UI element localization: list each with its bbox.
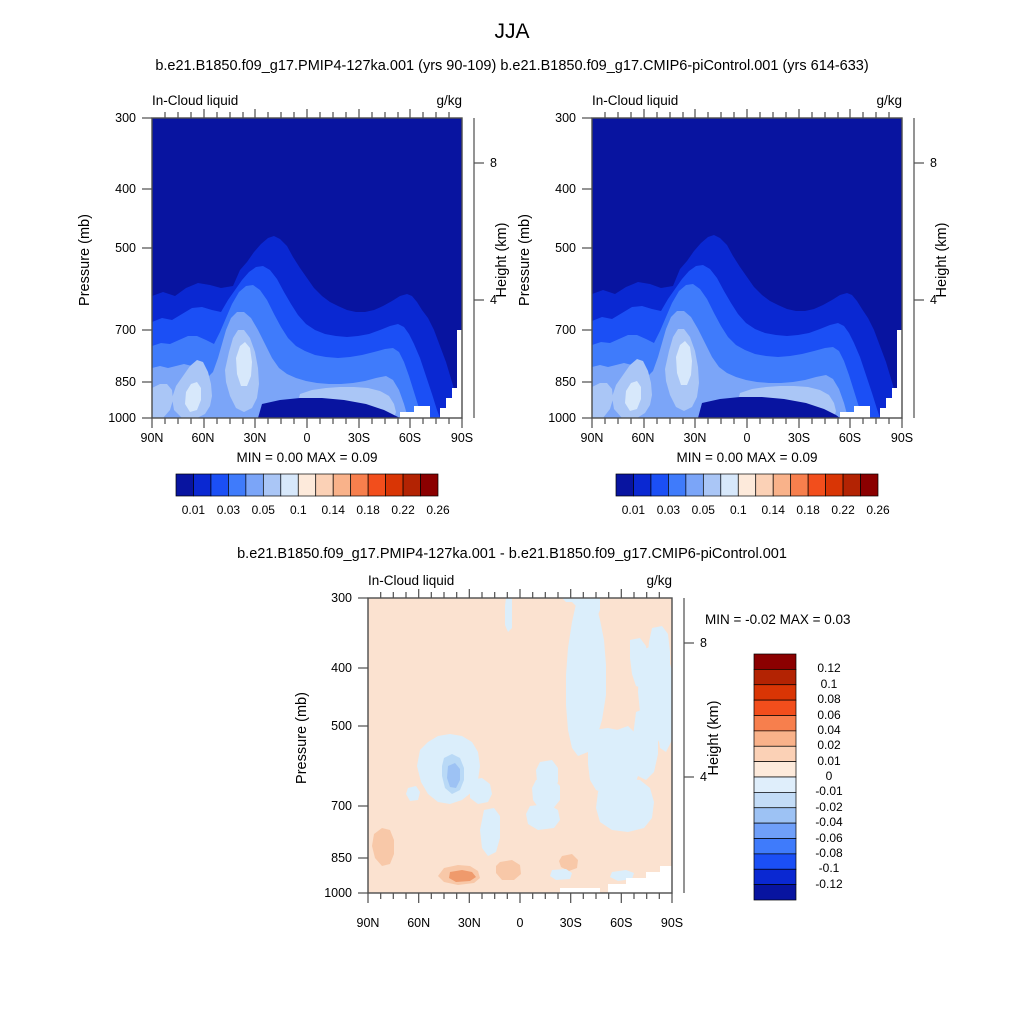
panel-diff-height-ticks [684,643,694,777]
panel-diff-y2label: Height (km) [706,648,722,828]
panel-diff-xtick-30S: 30S [560,916,582,930]
panel-left-xticks-top [165,109,449,118]
panel-right-xtick-60N: 60N [632,431,655,445]
panel-right-ytick-500: 500 [555,241,576,255]
panel-diff-xticks [368,893,672,903]
colorbar-diff-label: -0.04 [806,815,852,829]
colorbar-diff-cell[interactable] [754,808,796,823]
panel-right-ytick-700: 700 [555,323,576,337]
panel-diff-minmax: MIN = -0.02 MAX = 0.03 [705,612,851,627]
panel-right-ytick-850: 850 [555,375,576,389]
panel-left-xtick-90N: 90N [141,431,164,445]
panel-right-xtick-90N: 90N [581,431,604,445]
panel-diff-xticks-top [381,589,660,598]
panel-right-minmax: MIN = 0.00 MAX = 0.09 [676,450,817,465]
colorbar-diff-cell[interactable] [754,654,796,669]
colorbar-diff-cell[interactable] [754,777,796,792]
colorbar-diff-label: -0.02 [806,800,852,814]
panel-diff-xtick-60N: 60N [407,916,430,930]
colorbar-diff-cell[interactable] [754,839,796,854]
panel-left-xtick-60N: 60N [192,431,215,445]
panel-left-xticks [152,418,462,428]
panel-right-xtick-0: 0 [744,431,751,445]
panel-right-htick-4: 4 [930,293,937,307]
panel-right-ytick-400: 400 [555,182,576,196]
panel-left-ylabel: Pressure (mb) [77,170,93,350]
panel-right-xtick-60S: 60S [839,431,861,445]
panel-diff-ytick-500: 500 [331,719,352,733]
colorbar-diff-label: 0.01 [806,754,852,768]
colorbar-diff-cell[interactable] [754,885,796,900]
panel-diff-xtick-30N: 30N [458,916,481,930]
colorbar-diff[interactable] [754,654,800,902]
panel-right-height-ticks [914,163,924,300]
colorbar-diff-cell[interactable] [754,685,796,700]
colorbar-diff-cell[interactable] [754,792,796,807]
panel-left-ytick-850: 850 [115,375,136,389]
colorbar-diff-label: -0.1 [806,861,852,875]
colorbar-diff-cell[interactable] [754,762,796,777]
panel-left-ytick-500: 500 [115,241,136,255]
panel-right-ylabel: Pressure (mb) [517,170,533,350]
panel-left-yticks [142,118,152,418]
panel-left-ytick-400: 400 [115,182,136,196]
colorbar-diff-label: -0.08 [806,846,852,860]
panel-right-ytick-1000: 1000 [548,411,576,425]
panel-diff-xtick-0: 0 [517,916,524,930]
colorbar-diff-label: 0 [806,769,852,783]
panel-left-ytick-1000: 1000 [108,411,136,425]
colorbar-diff-cell[interactable] [754,669,796,684]
colorbar-diff-label: 0.06 [806,708,852,722]
panel-left-xtick-30N: 30N [244,431,267,445]
panel-diff-ytick-300: 300 [331,591,352,605]
panel-right-xtick-30S: 30S [788,431,810,445]
colorbar-diff-label: -0.06 [806,831,852,845]
panel-diff-xtick-60S: 60S [610,916,632,930]
colorbar-diff-label: 0.08 [806,692,852,706]
colorbar-diff-label: -0.01 [806,784,852,798]
panel-diff-htick-4: 4 [700,770,707,784]
panel-left-contour-field [152,118,462,418]
panel-right-ytick-300: 300 [555,111,576,125]
colorbar-diff-label: 0.02 [806,738,852,752]
panel-right-xticks [592,418,902,428]
panel-diff-xtick-90N: 90N [357,916,380,930]
colorbar-diff-label: 0.12 [806,661,852,675]
colorbar-diff-label: 0.04 [806,723,852,737]
colorbar-diff-cell[interactable] [754,823,796,838]
colorbar-diff-cell[interactable] [754,731,796,746]
colorbar-diff-cell[interactable] [754,869,796,884]
panel-left-ytick-300: 300 [115,111,136,125]
colorbar-diff-cell[interactable] [754,854,796,869]
panel-right-y2label: Height (km) [934,170,950,350]
panel-diff-ytick-700: 700 [331,799,352,813]
panel-diff-ytick-400: 400 [331,661,352,675]
panel-diff-ytick-850: 850 [331,851,352,865]
panel-left-minmax: MIN = 0.00 MAX = 0.09 [236,450,377,465]
panel-diff-contour-field [368,598,672,893]
colorbar-diff-label: -0.12 [806,877,852,891]
colorbar-diff-cell[interactable] [754,746,796,761]
panel-diff-htick-8: 8 [700,636,707,650]
colorbar-diff-labels: 0.120.10.080.060.040.020.010-0.01-0.02-0… [806,654,876,902]
panel-diff-ytick-1000: 1000 [324,886,352,900]
panel-diff-yticks [358,598,368,893]
panel-right-htick-8: 8 [930,156,937,170]
panel-right-xtick-90S: 90S [891,431,913,445]
panel-right-xtick-30N: 30N [684,431,707,445]
colorbar-diff-cell[interactable] [754,716,796,731]
panel-left-xtick-60S: 60S [399,431,421,445]
panel-diff-xtick-90S: 90S [661,916,683,930]
panel-left-xtick-0: 0 [304,431,311,445]
panel-left-ytick-700: 700 [115,323,136,337]
figure-root: JJA b.e21.B1850.f09_g17.PMIP4-127ka.001 … [0,0,1024,1024]
panel-right-yticks [582,118,592,418]
panel-right-contour-field [592,118,902,418]
colorbar-diff-cell[interactable] [754,700,796,715]
colorbar-diff-label: 0.1 [806,677,852,691]
panel-left-xtick-30S: 30S [348,431,370,445]
panel-diff-ylabel: Pressure (mb) [294,648,310,828]
panel-right-xticks-top [605,109,889,118]
